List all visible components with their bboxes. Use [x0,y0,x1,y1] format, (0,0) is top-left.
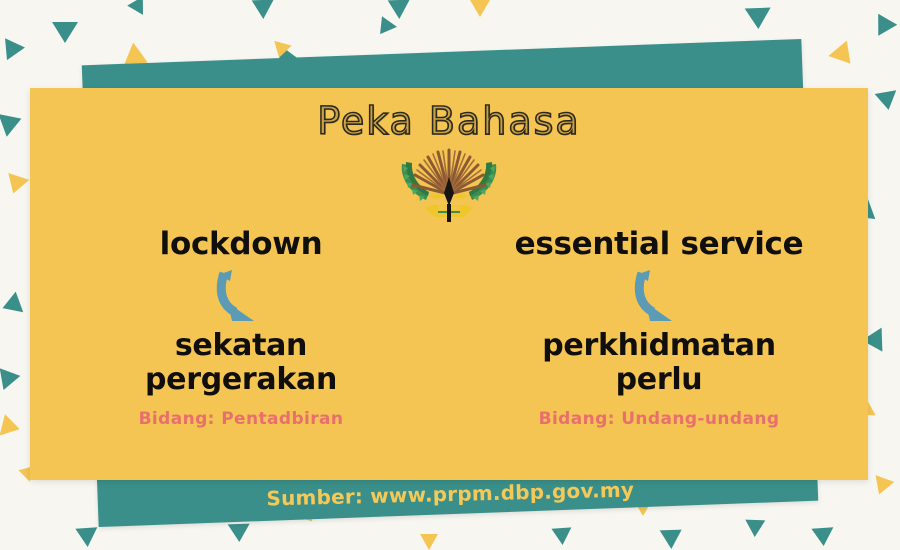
decorative-triangle [0,38,25,65]
decorative-triangle [745,8,772,30]
decorative-triangle [0,414,22,440]
term-malay-line-1: sekatan [32,329,450,363]
term-english-essential-service: essential service [450,228,868,261]
decorative-triangle [828,41,859,72]
curved-down-arrow-icon [32,267,450,329]
term-malay-line-2: perlu [450,363,868,397]
decorative-triangle [127,0,151,19]
field-label-undang-undang: Bidang: Undang-undang [450,409,868,429]
decorative-triangle [875,90,900,112]
decorative-triangle [52,22,78,43]
decorative-triangle [228,524,251,543]
decorative-triangle [660,530,683,550]
decorative-triangle [0,107,26,136]
decorative-triangle [745,520,766,538]
field-label-pentadbiran: Bidang: Pentadbiran [32,409,450,429]
term-malay-sekatan-pergerakan: sekatan pergerakan [32,329,450,397]
decorative-triangle [420,534,438,550]
decorative-triangle [869,14,898,41]
dbp-emblem-icon [394,144,504,222]
decorative-triangle [811,527,834,546]
decorative-triangle [75,527,98,547]
decorative-triangle [0,365,22,390]
term-english-lockdown: lockdown [32,228,450,261]
decorative-triangle [470,0,490,17]
curved-down-arrow-icon [450,267,868,329]
decorative-triangle [0,292,23,319]
decorative-triangle [252,0,275,19]
yellow-content-card: Peka Bahasa [30,88,868,480]
header-block: Peka Bahasa [30,102,868,222]
term-column-left: lockdown sekatan pergerakan Bidang: Pent… [32,228,450,429]
term-malay-line-2: pergerakan [32,363,450,397]
term-column-right: essential service perkhidmatan perlu Bid… [450,228,868,429]
decorative-triangle [551,527,572,545]
term-malay-line-1: perkhidmatan [450,329,868,363]
page-title: Peka Bahasa [30,102,868,140]
term-malay-perkhidmatan-perlu: perkhidmatan perlu [450,329,868,397]
decorative-triangle [3,173,29,197]
poster-canvas: Peka Bahasa [0,0,900,550]
decorative-triangle [380,16,398,36]
